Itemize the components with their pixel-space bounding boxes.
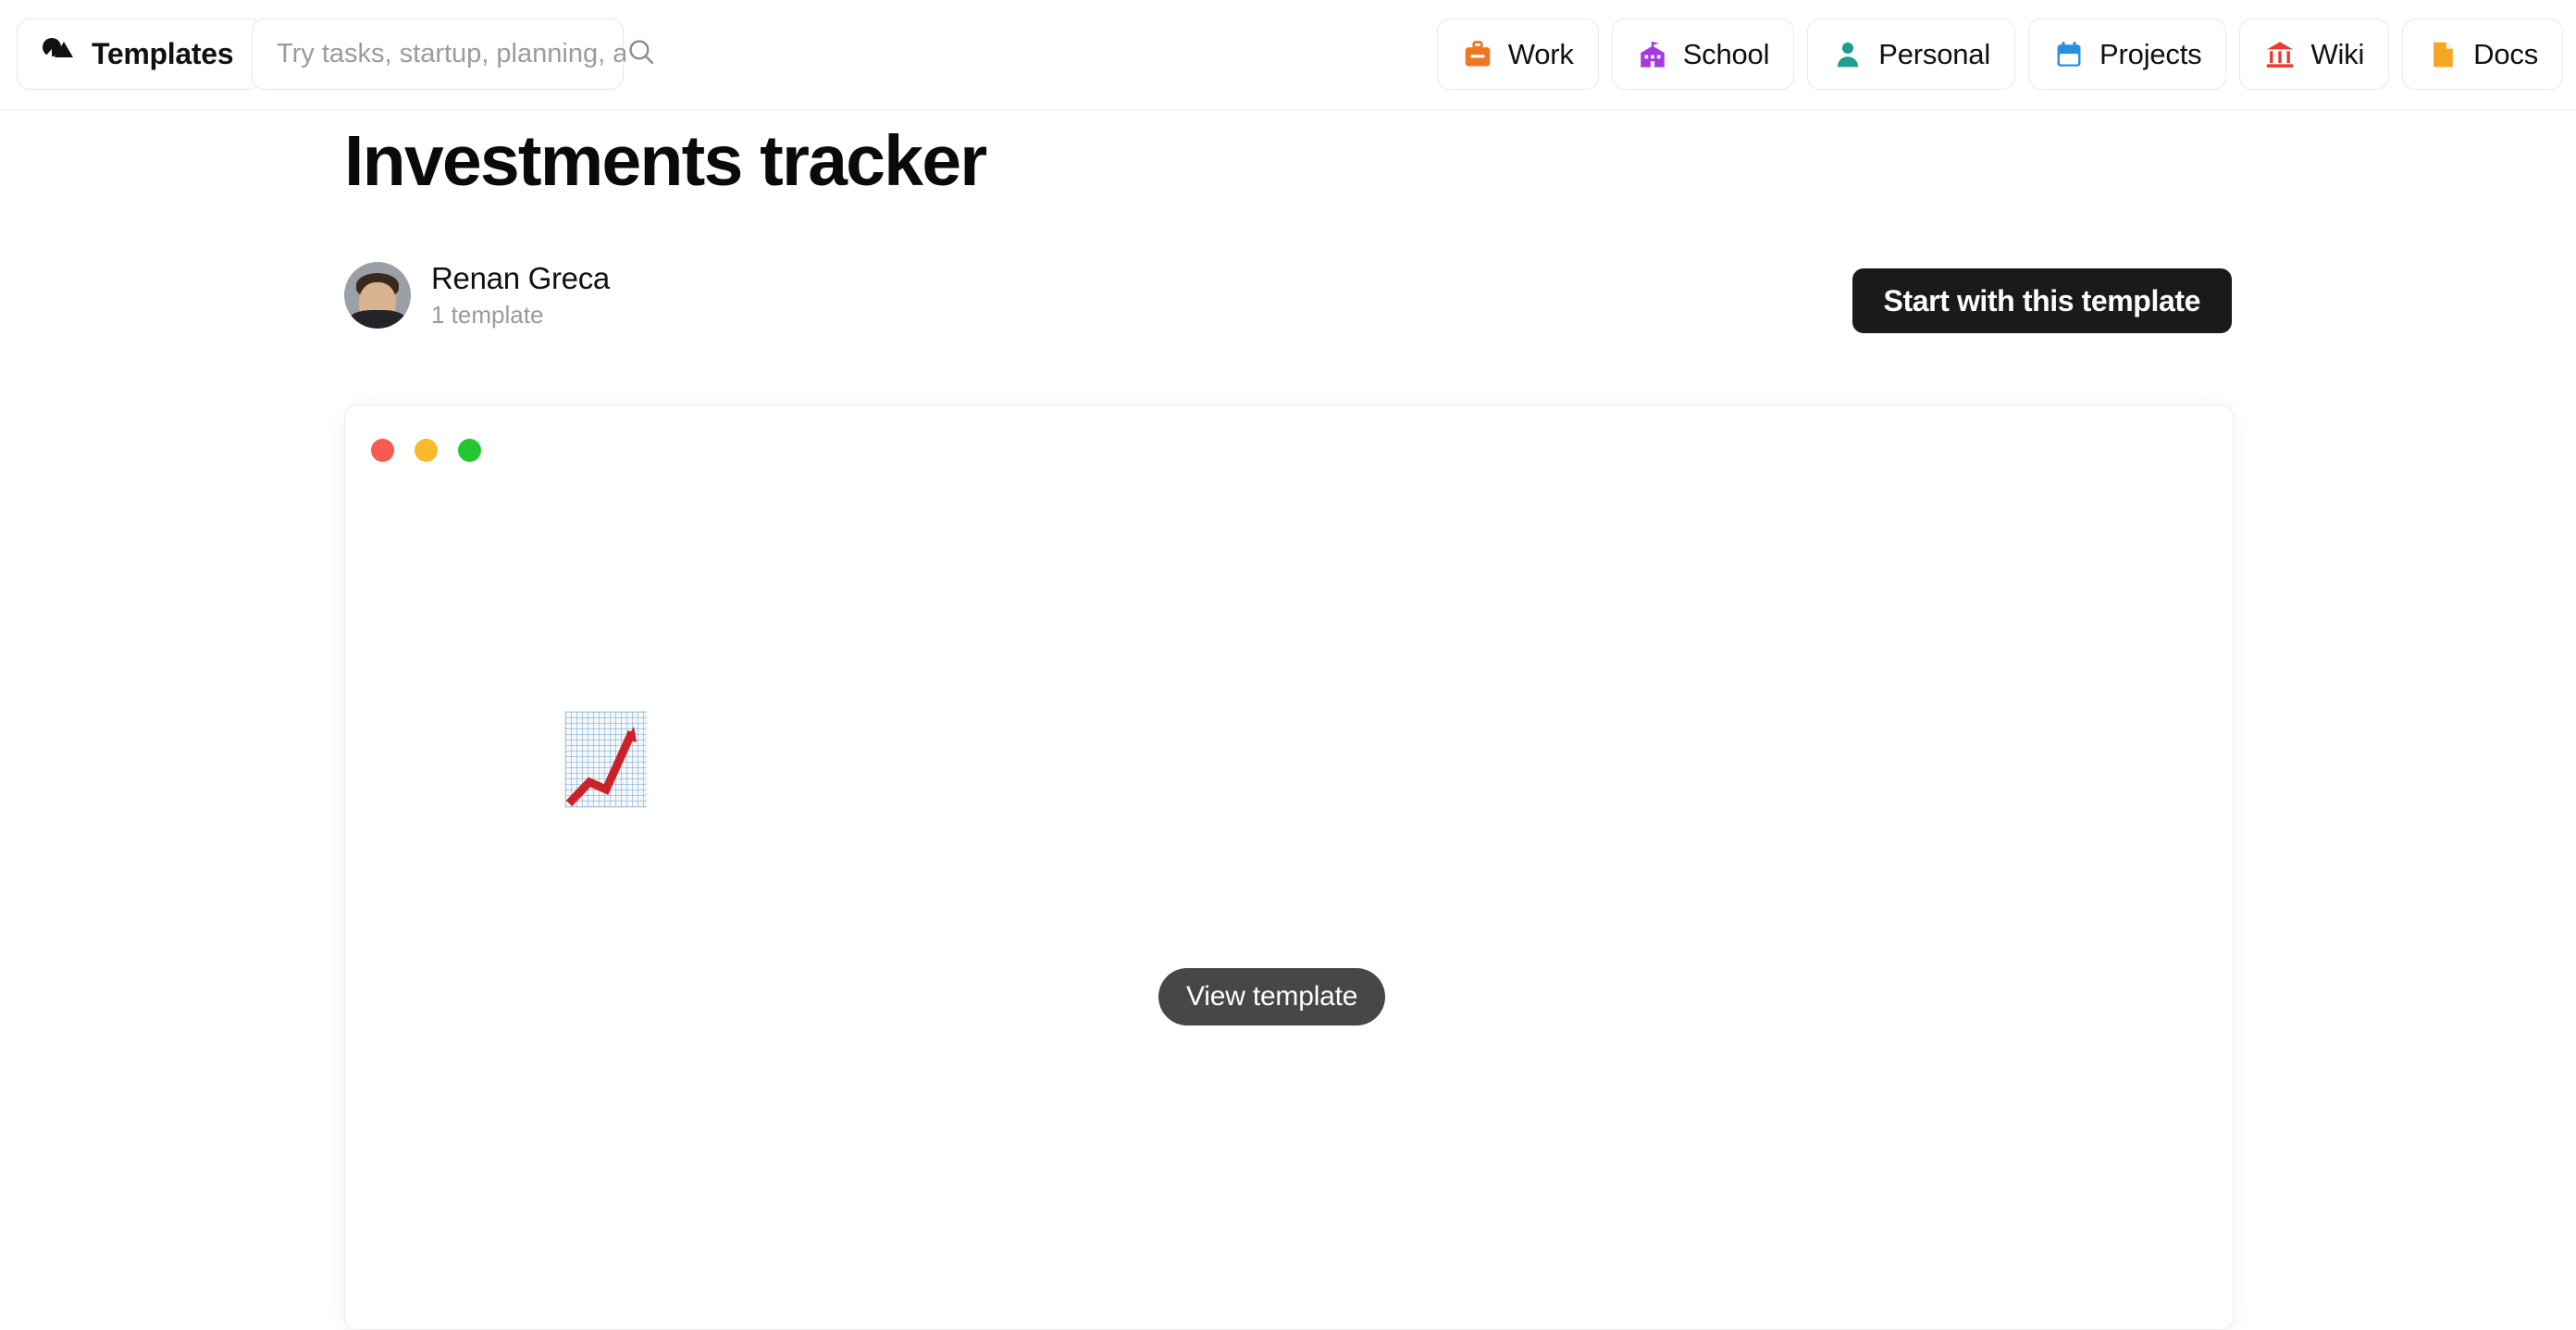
person-icon	[1832, 39, 1864, 70]
author-info: Renan Greca 1 template	[431, 259, 610, 331]
templates-logo-icon	[42, 36, 75, 72]
maximize-dot[interactable]	[458, 439, 481, 462]
briefcase-icon	[1462, 39, 1493, 70]
nav-button-wiki[interactable]: Wiki	[2239, 19, 2389, 90]
top-navigation-bar: Templates Work	[0, 0, 2576, 110]
nav-button-personal[interactable]: Personal	[1807, 19, 2015, 90]
chart-increasing-icon	[564, 711, 647, 808]
calendar-icon	[2053, 39, 2085, 70]
template-preview-card[interactable]: Investments tracker Investments (Templat…	[344, 404, 2234, 1330]
minimize-dot[interactable]	[415, 439, 438, 462]
nav-label-work: Work	[1508, 38, 1574, 71]
templates-label: Templates	[92, 37, 233, 71]
search-input[interactable]	[277, 39, 625, 69]
nav-button-school[interactable]: School	[1612, 19, 1795, 90]
nav-label-docs: Docs	[2473, 38, 2538, 71]
nav-label-personal: Personal	[1878, 38, 1990, 71]
start-with-this-template-button[interactable]: Start with this template	[1852, 268, 2232, 333]
nav-button-work[interactable]: Work	[1437, 19, 1599, 90]
window-controls	[371, 439, 481, 462]
bank-icon	[2264, 39, 2296, 70]
school-icon	[1637, 39, 1668, 70]
avatar	[344, 262, 411, 329]
nav-button-docs[interactable]: Docs	[2402, 19, 2563, 90]
templates-home-button[interactable]: Templates	[17, 19, 262, 90]
author-row[interactable]: Renan Greca 1 template	[344, 259, 610, 331]
nav-label-projects: Projects	[2099, 38, 2201, 71]
nav-label-wiki: Wiki	[2310, 38, 2364, 71]
nav-label-school: School	[1683, 38, 1770, 71]
search-bar[interactable]	[252, 19, 624, 90]
page-title: Investments tracker	[344, 120, 985, 203]
search-icon[interactable]	[625, 36, 657, 72]
nav-button-projects[interactable]: Projects	[2028, 19, 2226, 90]
author-template-count: 1 template	[431, 299, 610, 331]
document-icon	[2427, 39, 2458, 70]
category-nav-group: Work School	[1437, 19, 2563, 90]
author-name: Renan Greca	[431, 259, 610, 297]
close-dot[interactable]	[371, 439, 394, 462]
